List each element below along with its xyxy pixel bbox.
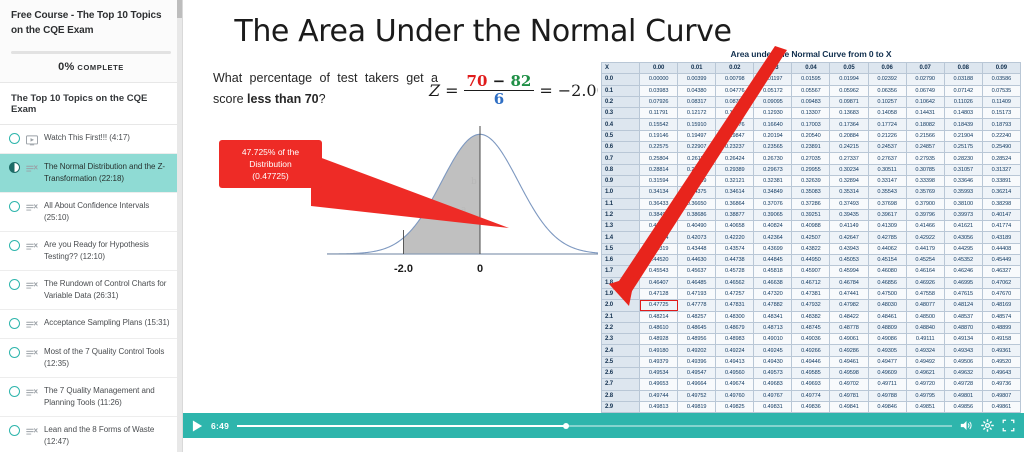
z-table-cell: 0.45449 [982,255,1020,266]
z-table-cell: 0.07142 [944,85,982,96]
z-table-cell: 0.21566 [906,130,944,141]
z-table-col-header: 0.04 [792,63,830,74]
z-table-cell: 0.49807 [982,390,1020,401]
z-table-cell: 0.10642 [906,96,944,107]
z-table-cell: 0.49621 [906,368,944,379]
z-table-row-header: 2.3 [602,334,640,345]
z-table-cell: 0.44062 [868,243,906,254]
z-table-cell: 0.43448 [678,243,716,254]
z-table-cell: 0.40320 [640,221,678,232]
z-table-cell: 0.49379 [640,356,678,367]
z-table-cell: 0.36433 [640,198,678,209]
z-table-cell: 0.48500 [906,311,944,322]
z-table-row: 1.20.384930.386860.388770.390650.392510.… [602,209,1021,220]
z-table-row: 1.00.341340.343750.346140.348490.350830.… [602,187,1021,198]
z-table-row-header: 0.7 [602,153,640,164]
z-table-cell: 0.42647 [830,232,868,243]
z-table-cell: 0.37900 [906,198,944,209]
z-table-row-header: 0.5 [602,130,640,141]
z-table-cell: 0.49180 [640,345,678,356]
z-table-row-header: 2.9 [602,401,640,412]
z-table-cell: 0.49477 [868,356,906,367]
callout-line1: 47.725% of the [242,146,299,158]
z-table-cell: 0.46562 [716,277,754,288]
lesson-item-8[interactable]: The 7 Quality Management and Planning To… [0,378,182,417]
z-table-cell: 0.13683 [830,108,868,119]
z-table-cell: 0.10257 [868,96,906,107]
scrollbar-thumb[interactable] [177,0,182,18]
lesson-icon [26,201,38,212]
status-not-started-icon[interactable] [9,318,20,329]
z-table-cell: 0.40147 [982,209,1020,220]
z-table-cell: 0.48422 [830,311,868,322]
z-table-cell: 0.39796 [906,209,944,220]
lesson-item-label: Lean and the 8 Forms of Waste (12:47) [44,424,174,448]
z-table-cell: 0.49788 [868,390,906,401]
z-table-cell: 0.28524 [982,153,1020,164]
z-table-cell: 0.19146 [640,130,678,141]
z-table-cell: 0.41149 [830,221,868,232]
status-not-started-icon[interactable] [9,240,20,251]
z-table-cell: 0.46164 [906,266,944,277]
lesson-item-label: All About Confidence Intervals (25:10) [44,200,174,224]
z-table-cell: 0.37286 [792,198,830,209]
status-not-started-icon[interactable] [9,279,20,290]
z-table-cell: 0.49856 [944,401,982,412]
z-table-cell: 0.18793 [982,119,1020,130]
z-table-cell: 0.48809 [868,322,906,333]
z-table-cell: 0.06749 [906,85,944,96]
z-table-cell: 0.49245 [754,345,792,356]
z-table-cell: 0.33646 [944,175,982,186]
lesson-item-label: The Rundown of Control Charts for Variab… [44,278,174,302]
z-table-cell: 0.48840 [906,322,944,333]
z-table-cell: 0.49534 [640,368,678,379]
z-table-cell: 0.45154 [868,255,906,266]
status-not-started-icon[interactable] [9,425,20,436]
z-table-header-row: X0.000.010.020.030.040.050.060.070.080.0… [602,63,1021,74]
z-table-cell: 0.49813 [640,401,678,412]
formula-numerator-op: − [493,72,506,90]
z-table-cell: 0.21904 [944,130,982,141]
z-table-cell: 0.49720 [906,379,944,390]
z-table-cell: 0.45994 [830,266,868,277]
z-table-cell: 0.49305 [868,345,906,356]
formula-numerator: 70 − 82 [464,74,535,90]
z-table-cell: 0.15910 [678,119,716,130]
z-table-cell: 0.41466 [906,221,944,232]
z-table-cell: 0.49841 [830,401,868,412]
z-table-cell: 0.45543 [640,266,678,277]
z-table-cell: 0.14431 [906,108,944,119]
z-table-row-header: 1.1 [602,198,640,209]
z-table-cell: 0.28230 [944,153,982,164]
z-table-cell: 0.46995 [944,277,982,288]
z-table-cell: 0.08706 [716,96,754,107]
z-table-cell: 0.01994 [830,74,868,85]
z-table-cell: 0.44295 [944,243,982,254]
lesson-item-4[interactable]: Are you Ready for Hypothesis Testing?? (… [0,232,182,271]
z-table-cell: 0.30511 [868,164,906,175]
z-table-cell: 0.00399 [678,74,716,85]
z-table-cell: 0.29389 [716,164,754,175]
z-table-cell: 0.39065 [754,209,792,220]
lesson-item-label: Are you Ready for Hypothesis Testing?? (… [44,239,174,263]
z-table-cell: 0.42364 [754,232,792,243]
z-table-cell: 0.19847 [716,130,754,141]
gear-icon[interactable] [981,419,994,432]
z-table-cell: 0.40988 [792,221,830,232]
z-table-cell: 0.11409 [982,96,1020,107]
z-table-cell: 0.34134 [640,187,678,198]
z-table-cell: 0.01197 [754,74,792,85]
z-table-col-header: 0.06 [868,63,906,74]
z-table-cell: 0.43189 [982,232,1020,243]
z-table-cell: 0.49506 [944,356,982,367]
z-table-cell: 0.46856 [868,277,906,288]
z-table-cell: 0.45254 [906,255,944,266]
z-table-cell: 0.42220 [716,232,754,243]
z-table-row: 1.60.445200.446300.447380.448450.449500.… [602,255,1021,266]
callout-box: 47.725% of the Distribution (0.47725) [219,140,322,188]
z-table-cell: 0.48928 [640,334,678,345]
z-table-cell: 0.44950 [792,255,830,266]
z-table-cell: 0.49632 [944,368,982,379]
z-table-cell: 0.27935 [906,153,944,164]
z-table-row: 2.40.491800.492020.492240.492450.492660.… [602,345,1021,356]
z-table-cell: 0.36864 [716,198,754,209]
z-table-cell: 0.11791 [640,108,678,119]
lesson-item-label: Acceptance Sampling Plans (15:31) [44,317,170,329]
status-not-started-icon[interactable] [9,386,20,397]
z-table-cell: 0.43943 [830,243,868,254]
z-table-row: 0.00.000000.003990.007980.011970.015950.… [602,74,1021,85]
status-not-started-icon[interactable] [9,201,20,212]
z-table-title: Area under the Normal Curve from 0 to X [598,47,1024,62]
course-sidebar: Free Course - The Top 10 Topics on the C… [0,0,183,452]
z-table-cell: 0.32121 [716,175,754,186]
z-table-cell: 0.41309 [868,221,906,232]
z-table-cell: 0.45907 [792,266,830,277]
formula-equals: = [445,81,458,100]
z-table-cell: 0.48382 [792,311,830,322]
formula-numerator-b: 82 [510,72,531,90]
lesson-item-label: Watch This First!!! (4:17) [44,132,130,144]
play-icon[interactable] [192,420,203,432]
z-table-cell: 0.49061 [830,334,868,345]
z-table-row-header: 2.8 [602,390,640,401]
z-table-cell: 0.32894 [830,175,868,186]
z-table-cell: 0.48257 [678,311,716,322]
z-table-row-header: 1.0 [602,187,640,198]
x-tick-label-center: 0 [477,263,483,275]
z-table-cell: 0.49573 [754,368,792,379]
formula-fraction: 70 − 82 6 [464,74,535,107]
z-table-cell: 0.45728 [716,266,754,277]
z-table-cell: 0.49653 [640,379,678,390]
z-table-cell: 0.49831 [754,401,792,412]
z-table-cell: 0.49702 [830,379,868,390]
z-table-cell: 0.37698 [868,198,906,209]
z-table-row: 2.70.496530.496640.496740.496830.496930.… [602,379,1021,390]
z-table-cell: 0.48956 [678,334,716,345]
z-table-cell: 0.47193 [678,288,716,299]
z-table-cell: 0.49492 [906,356,944,367]
z-table-cell: 0.49760 [716,390,754,401]
z-table-corner: X [602,63,640,74]
z-table-row-header: 2.0 [602,300,640,311]
z-table-cell: 0.34849 [754,187,792,198]
z-table-cell: 0.45818 [754,266,792,277]
z-table-cell: 0.04380 [678,85,716,96]
z-table-cell: 0.48461 [868,311,906,322]
z-table-cell: 0.49711 [868,379,906,390]
z-table-cell: 0.48124 [944,300,982,311]
z-table-body: 0.00.000000.003990.007980.011970.015950.… [602,74,1021,422]
z-table-cell: 0.41924 [640,232,678,243]
z-table-row-header: 0.8 [602,164,640,175]
z-table-cell: 0.22575 [640,142,678,153]
volume-icon[interactable] [960,419,973,432]
z-table-cell: 0.47882 [754,300,792,311]
z-table-cell: 0.06356 [868,85,906,96]
question-text: What percentage of test takers get a sco… [213,68,438,109]
z-table-row-header: 1.4 [602,232,640,243]
formula-denominator: 6 [494,91,504,107]
z-table-cell: 0.12552 [716,108,754,119]
z-table-cell: 0.33891 [982,175,1020,186]
current-time: 6:49 [211,421,229,431]
z-table-cell: 0.49224 [716,345,754,356]
z-table-cell: 0.49598 [830,368,868,379]
z-table-cell: 0.49609 [868,368,906,379]
z-table-cell: 0.49111 [906,334,944,345]
z-table-cell: 0.49446 [792,356,830,367]
fullscreen-icon[interactable] [1002,419,1015,432]
formula-result-equals: = [539,81,552,100]
z-table-row: 1.30.403200.404900.406580.408240.409880.… [602,221,1021,232]
seek-handle[interactable] [563,423,569,429]
lesson-icon [26,279,38,290]
z-table-cell: 0.49585 [792,368,830,379]
lesson-icon [26,240,38,251]
z-table-cell: 0.33147 [868,175,906,186]
z-table-row-header: 0.0 [602,74,640,85]
course-progress-bar [0,45,182,56]
z-table-cell: 0.49396 [678,356,716,367]
lesson-item-1[interactable]: Watch This First!!! (4:17) [0,125,182,154]
z-table-cell: 0.46784 [830,277,868,288]
z-table-cell: 0.47982 [830,300,868,311]
z-table-row-header: 0.2 [602,96,640,107]
z-table-cell: 0.26115 [678,153,716,164]
z-table-cell: 0.49674 [716,379,754,390]
slide-title: The Area Under the Normal Curve [183,14,783,49]
lesson-icon [26,162,38,173]
progress-word: COMPLETE [77,63,123,72]
z-table-cell: 0.28814 [640,164,678,175]
z-table-cell: 0.48537 [944,311,982,322]
z-table-row-header: 1.7 [602,266,640,277]
z-table-row-header: 2.7 [602,379,640,390]
z-table-cell: 0.47932 [792,300,830,311]
z-table-row: 2.60.495340.495470.495600.495730.495850.… [602,368,1021,379]
z-table-row: 0.20.079260.083170.087060.090950.094830.… [602,96,1021,107]
z-table-row: 1.70.455430.456370.457280.458180.459070.… [602,266,1021,277]
progress-label: 0% COMPLETE [0,56,182,82]
z-table: X0.000.010.020.030.040.050.060.070.080.0… [601,62,1021,422]
z-table-cell: 0.20884 [830,130,868,141]
lesson-item-label: Most of the 7 Quality Control Tools (12:… [44,346,174,370]
z-table-cell: 0.23237 [716,142,754,153]
z-table-cell: 0.39435 [830,209,868,220]
seek-progress [237,425,566,427]
z-table-cell: 0.27337 [830,153,868,164]
z-table-row: 0.30.117910.121720.125520.129300.133070.… [602,108,1021,119]
z-table-cell: 0.48645 [678,322,716,333]
z-table-cell: 0.47320 [754,288,792,299]
z-table-cell: 0.17003 [792,119,830,130]
z-table-cell: 0.25804 [640,153,678,164]
z-table-cell: 0.47831 [716,300,754,311]
z-table-row-header: 1.2 [602,209,640,220]
z-table-cell: 0.24215 [830,142,868,153]
z-table-cell: 0.45053 [830,255,868,266]
z-table-cell: 0.27035 [792,153,830,164]
z-table-cell: 0.49520 [982,356,1020,367]
sidebar-scrollbar[interactable] [177,0,182,452]
z-table-row-header: 1.6 [602,255,640,266]
lesson-item-label: The 7 Quality Management and Planning To… [44,385,174,409]
sidebar-section-title: The Top 10 Topics on the CQE Exam [0,82,182,125]
z-table-cell: 0.22240 [982,130,1020,141]
z-table-cell: 0.49361 [982,345,1020,356]
lesson-list: Watch This First!!! (4:17)The Normal Dis… [0,125,182,452]
z-table-cell: 0.05567 [792,85,830,96]
z-table-cell: 0.25490 [982,142,1020,153]
z-table-cell: 0.46926 [906,277,944,288]
z-table-cell: 0.37493 [830,198,868,209]
z-table-cell: 0.14058 [868,108,906,119]
z-table-cell: 0.47558 [906,288,944,299]
z-table-col-header: 0.05 [830,63,868,74]
z-table-cell: 0.49781 [830,390,868,401]
z-table-cell: 0.31327 [982,164,1020,175]
z-table-cell: 0.18439 [944,119,982,130]
z-table-cell: 0.15542 [640,119,678,130]
z-table-cell: 0.39973 [944,209,982,220]
z-table-cell: 0.46638 [754,277,792,288]
z-table-row-header: 1.8 [602,277,640,288]
z-table-cell: 0.29103 [678,164,716,175]
z-table-cell: 0.48983 [716,334,754,345]
lesson-icon [26,425,38,436]
z-table-cell: 0.49736 [982,379,1020,390]
x-tick-label-left: -2.0 [394,263,413,275]
callout-line2: Distribution [242,158,299,170]
z-table-row: 0.10.039830.043800.047760.051720.055670.… [602,85,1021,96]
z-table-cell: 0.48574 [982,311,1020,322]
callout-arrow [311,150,521,240]
z-table-row: 0.90.315940.318590.321210.323810.326390.… [602,175,1021,186]
z-table-cell: 0.47670 [982,288,1020,299]
z-table-cell: 0.48899 [982,322,1020,333]
z-table-cell: 0.49324 [906,345,944,356]
z-table-cell: 0.40490 [678,221,716,232]
z-table-cell: 0.49846 [868,401,906,412]
z-table-cell: 0.02392 [868,74,906,85]
lesson-item-6[interactable]: Acceptance Sampling Plans (15:31) [0,310,182,339]
z-table-cell: 0.46485 [678,277,716,288]
z-table-cell: 0.49343 [944,345,982,356]
z-table-cell: 0.38298 [982,198,1020,209]
z-table-cell: 0.35543 [868,187,906,198]
z-table-row-header: 0.3 [602,108,640,119]
z-table-row-header: 2.5 [602,356,640,367]
seek-bar[interactable] [237,420,952,432]
z-table-cell: 0.43699 [754,243,792,254]
z-table-cell: 0.47128 [640,288,678,299]
lesson-item-3[interactable]: All About Confidence Intervals (25:10) [0,193,182,232]
status-in-progress-icon[interactable] [9,162,20,173]
z-table-cell: 0.39251 [792,209,830,220]
z-table-cell: 0.36214 [982,187,1020,198]
z-table-cell: 0.49158 [982,334,1020,345]
z-table-row: 2.20.486100.486450.486790.487130.487450.… [602,322,1021,333]
lesson-icon [26,347,38,358]
z-table-cell: 0.41774 [982,221,1020,232]
z-table-cell: 0.42922 [906,232,944,243]
callout-text: 47.725% of the Distribution (0.47725) [242,146,299,182]
z-table-cell: 0.38100 [944,198,982,209]
z-table-cell: 0.12172 [678,108,716,119]
status-not-started-icon[interactable] [9,133,20,144]
z-table-cell: 0.39617 [868,209,906,220]
z-table-col-header: 0.01 [678,63,716,74]
z-table-cell: 0.49819 [678,401,716,412]
lesson-icon [26,386,38,397]
z-table-row-header: 0.4 [602,119,640,130]
z-table-cell: 0.09871 [830,96,868,107]
z-table-cell: 0.44845 [754,255,792,266]
z-table-cell: 0.42507 [792,232,830,243]
z-table-cell: 0.48030 [868,300,906,311]
status-not-started-icon[interactable] [9,347,20,358]
z-table-cell: 0.05962 [830,85,868,96]
z-table-row: 2.00.477250.477780.478310.478820.479320.… [602,300,1021,311]
z-table-cell: 0.48679 [716,322,754,333]
lesson-item-9[interactable]: Lean and the 8 Forms of Waste (12:47) [0,417,182,452]
z-table-cell: 0.30234 [830,164,868,175]
lesson-item-2[interactable]: The Normal Distribution and the Z-Transf… [0,154,182,193]
z-table-cell: 0.48610 [640,322,678,333]
z-table-cell: 0.35083 [792,187,830,198]
z-table-cell: 0.16640 [754,119,792,130]
z-table-cell: 0.47062 [982,277,1020,288]
player-bottom-strip [183,438,1024,452]
lesson-item-7[interactable]: Most of the 7 Quality Control Tools (12:… [0,339,182,378]
lesson-item-5[interactable]: The Rundown of Control Charts for Variab… [0,271,182,310]
z-table-row: 1.40.419240.420730.422200.423640.425070.… [602,232,1021,243]
z-table-cell: 0.46407 [640,277,678,288]
z-table-cell: 0.00798 [716,74,754,85]
z-table-cell: 0.44738 [716,255,754,266]
z-table-cell: 0.03586 [982,74,1020,85]
z-table-cell: 0.46327 [982,266,1020,277]
z-table-cell: 0.38877 [716,209,754,220]
z-table-head: X0.000.010.020.030.040.050.060.070.080.0… [602,63,1021,74]
z-table-cell: 0.49774 [792,390,830,401]
